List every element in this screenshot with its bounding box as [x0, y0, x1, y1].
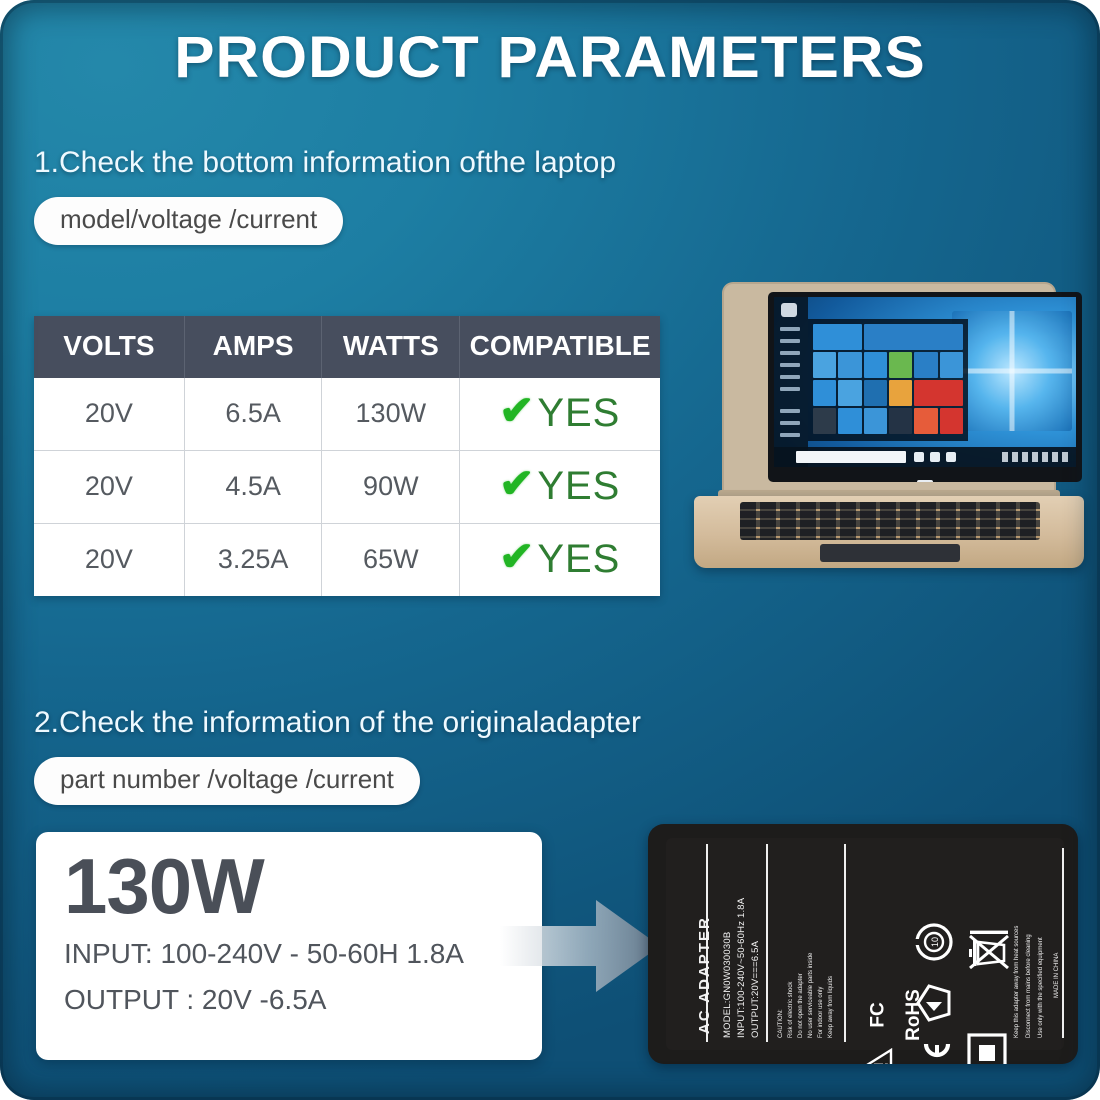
column-header-watts: WATTS	[322, 316, 460, 378]
check-icon: ✔	[499, 464, 534, 504]
cell-amps: 3.25A	[184, 524, 322, 597]
adapter-caution-title: CAUTION:	[778, 1009, 784, 1038]
table-row: 20V 3.25A 65W ✔ YES	[34, 524, 660, 597]
laptop-lid	[724, 284, 1054, 494]
output-spec: OUTPUT : 20V -6.5A	[64, 984, 514, 1016]
compatibility-table: VOLTS AMPS WATTS COMPATIBLE 20V 6.5A 130…	[34, 316, 660, 596]
start-menu-tiles	[808, 319, 968, 441]
account-avatar-icon	[781, 303, 797, 317]
warning-triangle-icon	[864, 1048, 894, 1064]
cell-volts: 20V	[34, 524, 184, 597]
laptop-keyboard	[740, 502, 1040, 540]
step-1-pill: model/voltage /current	[34, 197, 343, 245]
table-row: 20V 4.5A 90W ✔ YES	[34, 451, 660, 524]
weee-crossed-bin-icon	[968, 928, 1010, 974]
laptop-screen	[774, 297, 1076, 467]
column-header-volts: VOLTS	[34, 316, 184, 378]
adapter-model-text: MODEL:GN0W030030B	[722, 932, 733, 1038]
adapter-label-inner: AC ADAPTER MODEL:GN0W030030B INPUT:100-2…	[666, 838, 1064, 1050]
adapter-output-text: OUTPUT:20V===6.5A	[750, 941, 761, 1038]
arrow-icon	[500, 892, 660, 1000]
laptop-bezel	[768, 292, 1082, 482]
adapter-title-text: AC ADAPTER	[696, 916, 713, 1034]
bsmi-pentagon-icon	[915, 983, 953, 1023]
compatible-value: YES	[537, 466, 620, 506]
wattage-value: 130W	[64, 848, 514, 924]
compatible-value: YES	[537, 393, 620, 433]
adapter-caution-line: Risk of electric shock	[788, 982, 794, 1038]
cell-amps: 6.5A	[184, 378, 322, 451]
cell-compatible: ✔ YES	[460, 524, 660, 597]
system-tray-icon	[1002, 452, 1072, 462]
adapter-spec-card: 130W INPUT: 100-240V - 50-60H 1.8A OUTPU…	[36, 832, 542, 1060]
adapter-caution-line: Keep away from liquids	[828, 976, 834, 1038]
cell-watts: 65W	[322, 524, 460, 597]
adapter-notice-line: Disconnect from mains before cleaning	[1026, 934, 1032, 1038]
table-row: 20V 6.5A 130W ✔ YES	[34, 378, 660, 451]
adapter-caution-line: Do not open the adapter	[798, 973, 804, 1038]
input-spec: INPUT: 100-240V - 50-60H 1.8A	[64, 938, 514, 970]
cell-compatible: ✔ YES	[460, 451, 660, 524]
laptop-image	[688, 284, 1088, 572]
step-2-pill: part number /voltage /current	[34, 757, 420, 805]
class-ii-double-insulation-icon	[966, 1032, 1008, 1064]
check-icon: ✔	[499, 537, 534, 577]
adapter-input-text: INPUT:100-240V~50-60Hz 1.8A	[736, 898, 747, 1038]
page-title: PRODUCT PARAMETERS	[0, 24, 1100, 91]
windows-taskbar	[774, 447, 1076, 467]
windows-logo-icon	[917, 480, 933, 482]
column-header-amps: AMPS	[184, 316, 322, 378]
svg-text:10: 10	[930, 937, 940, 947]
check-icon: ✔	[499, 391, 534, 431]
cell-watts: 130W	[322, 378, 460, 451]
adapter-notice-line: Keep this adapter away from heat sources	[1014, 926, 1020, 1038]
adapter-label-image: AC ADAPTER MODEL:GN0W030030B INPUT:100-2…	[648, 824, 1078, 1064]
certification-marks: FC RoHS 10	[862, 854, 1012, 1050]
table-header-row: VOLTS AMPS WATTS COMPATIBLE	[34, 316, 660, 378]
windows-wallpaper-icon	[952, 311, 1072, 431]
column-header-compatible: COMPATIBLE	[460, 316, 660, 378]
laptop-touchpad	[820, 544, 960, 562]
cell-amps: 4.5A	[184, 451, 322, 524]
step-2-heading: 2.Check the information of the originala…	[34, 706, 641, 740]
taskbar-search-box	[796, 451, 906, 463]
cell-compatible: ✔ YES	[460, 378, 660, 451]
compatible-value: YES	[537, 539, 620, 579]
compatibility-table-wrap: VOLTS AMPS WATTS COMPATIBLE 20V 6.5A 130…	[34, 316, 660, 596]
step-1-heading: 1.Check the bottom information ofthe lap…	[34, 146, 616, 180]
start-menu-panel	[774, 297, 808, 467]
adapter-caution-line: No user serviceable parts inside	[808, 953, 814, 1038]
adapter-caution-line: For indoor use only	[818, 987, 824, 1038]
fc-mark-icon: FC	[868, 1002, 890, 1027]
recycle-10-icon: 10	[914, 922, 954, 962]
infographic-page: PRODUCT PARAMETERS 1.Check the bottom in…	[0, 0, 1100, 1100]
cell-volts: 20V	[34, 451, 184, 524]
cell-volts: 20V	[34, 378, 184, 451]
cell-watts: 90W	[322, 451, 460, 524]
ce-mark-icon	[922, 1042, 952, 1064]
adapter-origin-text: MADE IN CHINA	[1054, 953, 1060, 998]
adapter-notice-line: Use only with the specified equipment	[1038, 937, 1044, 1038]
